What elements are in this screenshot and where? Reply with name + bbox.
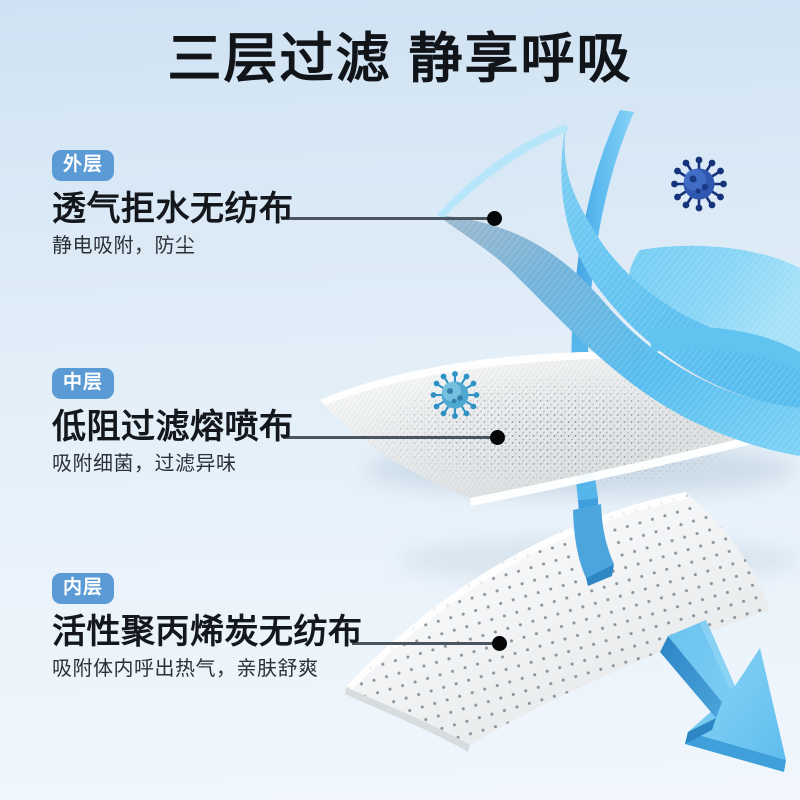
virus-icon-top xyxy=(671,157,727,212)
layer-title-outer: 透气拒水无纺布 xyxy=(52,190,294,229)
layer-block-middle: 中层 低阻过滤熔喷布 吸附细菌，过滤异味 xyxy=(52,368,294,476)
leader-dot-inner xyxy=(492,636,507,651)
layer-badge-outer: 外层 xyxy=(52,150,114,181)
layer-subtitle-inner: 吸附体内呼出热气，亲肤舒爽 xyxy=(52,657,363,681)
leader-line-outer xyxy=(287,217,492,220)
layer-subtitle-outer: 静电吸附，防尘 xyxy=(52,234,294,258)
leader-dot-outer xyxy=(487,211,502,226)
layer-title-inner: 活性聚丙烯炭无纺布 xyxy=(52,613,363,652)
leader-dot-middle xyxy=(490,430,505,445)
leader-line-middle xyxy=(283,436,495,439)
product-infographic-poster: 三层过滤 静享呼吸 xyxy=(0,0,800,800)
leader-line-inner xyxy=(352,642,497,645)
layer-subtitle-middle: 吸附细菌，过滤异味 xyxy=(52,452,294,476)
layer-block-outer: 外层 透气拒水无纺布 静电吸附，防尘 xyxy=(52,150,294,258)
layer-title-middle: 低阻过滤熔喷布 xyxy=(52,408,294,447)
layer-block-inner: 内层 活性聚丙烯炭无纺布 吸附体内呼出热气，亲肤舒爽 xyxy=(52,573,363,681)
layer-badge-middle: 中层 xyxy=(52,368,114,399)
layer-badge-inner: 内层 xyxy=(52,573,114,604)
down-right-arrow-icon xyxy=(660,620,786,772)
